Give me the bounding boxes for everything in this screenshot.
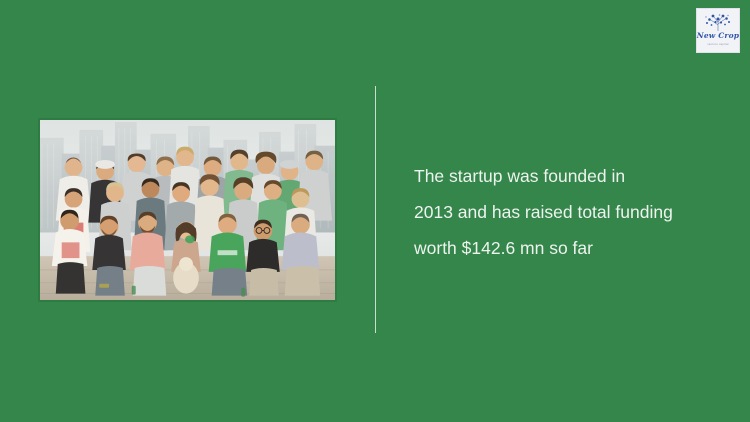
- vertical-divider: [375, 86, 376, 333]
- logo-tagline: venture capital: [707, 43, 728, 46]
- body-text-block: The startup was founded in 2013 and has …: [414, 158, 714, 266]
- tree-dots-icon: [701, 12, 735, 32]
- team-group-photo-image: [40, 120, 335, 302]
- team-group-photo: [38, 118, 337, 302]
- body-text-line-1: The startup was founded in: [414, 158, 714, 194]
- new-crop-logo: New Crop venture capital: [696, 8, 740, 53]
- logo-wordmark: New Crop: [697, 32, 739, 40]
- body-text-line-3: worth $142.6 mn so far: [414, 230, 714, 266]
- body-text-line-2: 2013 and has raised total funding: [414, 194, 714, 230]
- slide-canvas: New Crop venture capital: [0, 0, 750, 422]
